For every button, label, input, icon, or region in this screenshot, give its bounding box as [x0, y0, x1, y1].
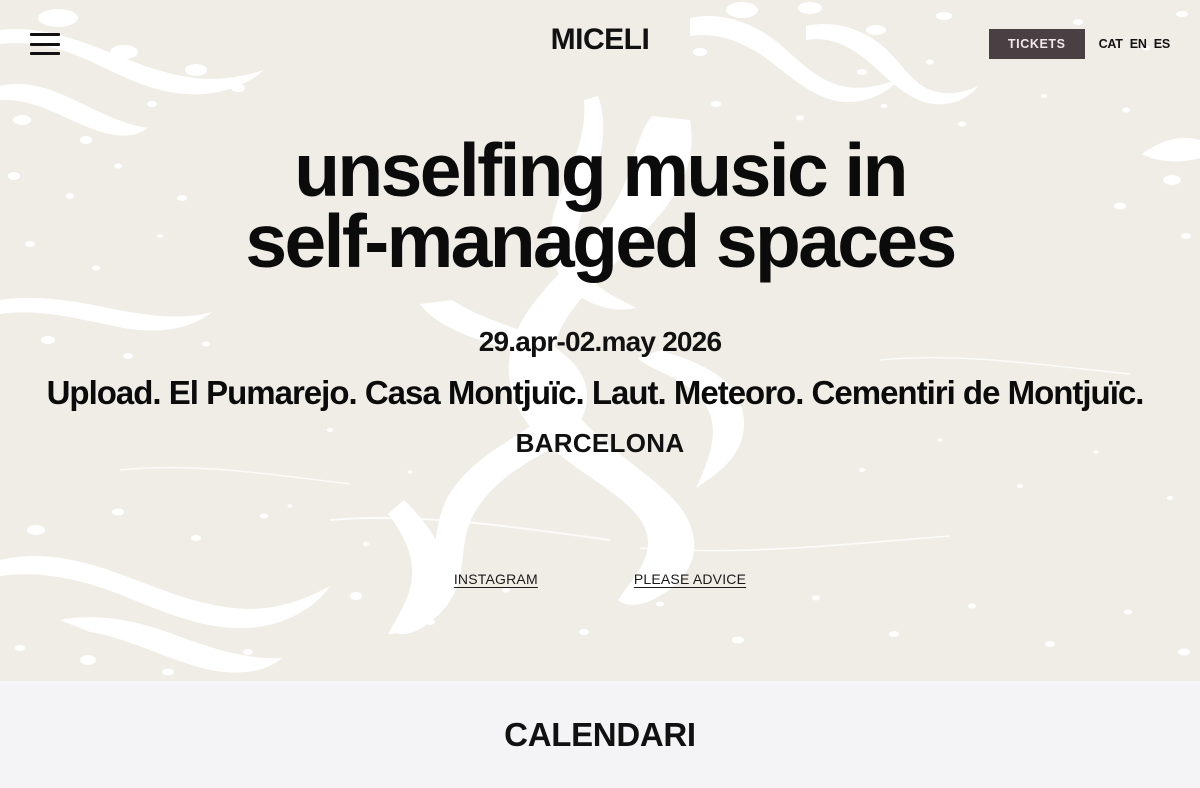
hamburger-bar — [30, 43, 60, 46]
instagram-link[interactable]: INSTAGRAM — [454, 571, 538, 587]
hero-links: INSTAGRAM PLEASE ADVICE — [0, 571, 1200, 587]
venues-marquee: Upload. El Pumarejo. Casa Montjuïc. Laut… — [0, 374, 1200, 412]
language-switcher: CAT EN ES — [1099, 38, 1170, 51]
headline-line-2: self-managed spaces — [0, 206, 1200, 277]
festival-dates: 29.apr-02.may 2026 — [0, 326, 1200, 358]
hamburger-bar — [30, 52, 60, 55]
tickets-button[interactable]: TICKETS — [989, 29, 1085, 60]
hamburger-menu-icon[interactable] — [30, 33, 60, 55]
language-option-en[interactable]: EN — [1130, 38, 1147, 51]
page-title: unselfing music in self-managed spaces — [0, 135, 1200, 278]
language-option-es[interactable]: ES — [1154, 38, 1170, 51]
calendar-section: CALENDARI — [0, 681, 1200, 788]
hamburger-bar — [30, 33, 60, 36]
venues-list: Upload. El Pumarejo. Casa Montjuïc. Laut… — [47, 374, 1144, 412]
header-actions: TICKETS CAT EN ES — [989, 29, 1170, 60]
calendar-title: CALENDARI — [504, 716, 696, 754]
site-header: MICELI TICKETS CAT EN ES — [0, 0, 1200, 88]
please-advice-link[interactable]: PLEASE ADVICE — [634, 571, 746, 587]
festival-city: BARCELONA — [0, 428, 1200, 459]
hero-section: MICELI TICKETS CAT EN ES unselfing music… — [0, 0, 1200, 681]
language-option-cat[interactable]: CAT — [1099, 38, 1123, 51]
